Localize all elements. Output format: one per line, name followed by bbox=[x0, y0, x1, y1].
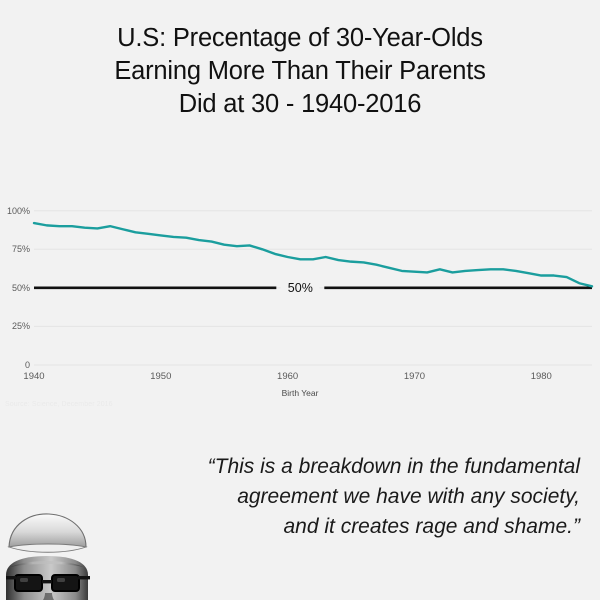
y-axis-tick: 100% bbox=[7, 206, 30, 216]
reference-line-label: 50% bbox=[281, 281, 320, 295]
x-axis-tick: 1970 bbox=[404, 371, 425, 382]
x-axis-title: Birth Year bbox=[0, 388, 600, 398]
title-line-1: U.S: Precentage of 30-Year-Olds bbox=[0, 22, 600, 55]
y-axis-tick: 0 bbox=[25, 360, 30, 370]
x-axis-tick: 1980 bbox=[531, 371, 552, 382]
man-with-open-head-icon bbox=[0, 505, 96, 600]
quote-line-3: and it creates rage and shame.” bbox=[90, 512, 580, 542]
skull-cap-shape bbox=[9, 514, 86, 547]
quote-line-1: “This is a breakdown in the fundamental bbox=[90, 452, 580, 482]
chart-source-note: Source: Science, December 2016 bbox=[5, 401, 113, 408]
x-axis-tick: 1950 bbox=[150, 371, 171, 382]
skull-cap-rim bbox=[9, 544, 86, 552]
quote-block: “This is a breakdown in the fundamental … bbox=[90, 452, 580, 542]
avatar bbox=[0, 505, 96, 600]
x-axis-tick: 1960 bbox=[277, 371, 298, 382]
line-chart: 025%50%75%100% 19401950196019701980 50% … bbox=[0, 185, 600, 415]
title-line-3: Did at 30 - 1940-2016 bbox=[0, 88, 600, 121]
quote-line-2: agreement we have with any society, bbox=[90, 482, 580, 512]
y-axis-tick: 75% bbox=[12, 244, 30, 254]
title-line-2: Earning More Than Their Parents bbox=[0, 55, 600, 88]
chart-plot-area: 025%50%75%100% 19401950196019701980 50% bbox=[0, 185, 600, 385]
y-axis-tick: 50% bbox=[12, 283, 30, 293]
y-axis-tick: 25% bbox=[12, 321, 30, 331]
page-title: U.S: Precentage of 30-Year-Olds Earning … bbox=[0, 22, 600, 121]
x-axis-tick: 1940 bbox=[23, 371, 44, 382]
data-series-line bbox=[34, 223, 592, 286]
